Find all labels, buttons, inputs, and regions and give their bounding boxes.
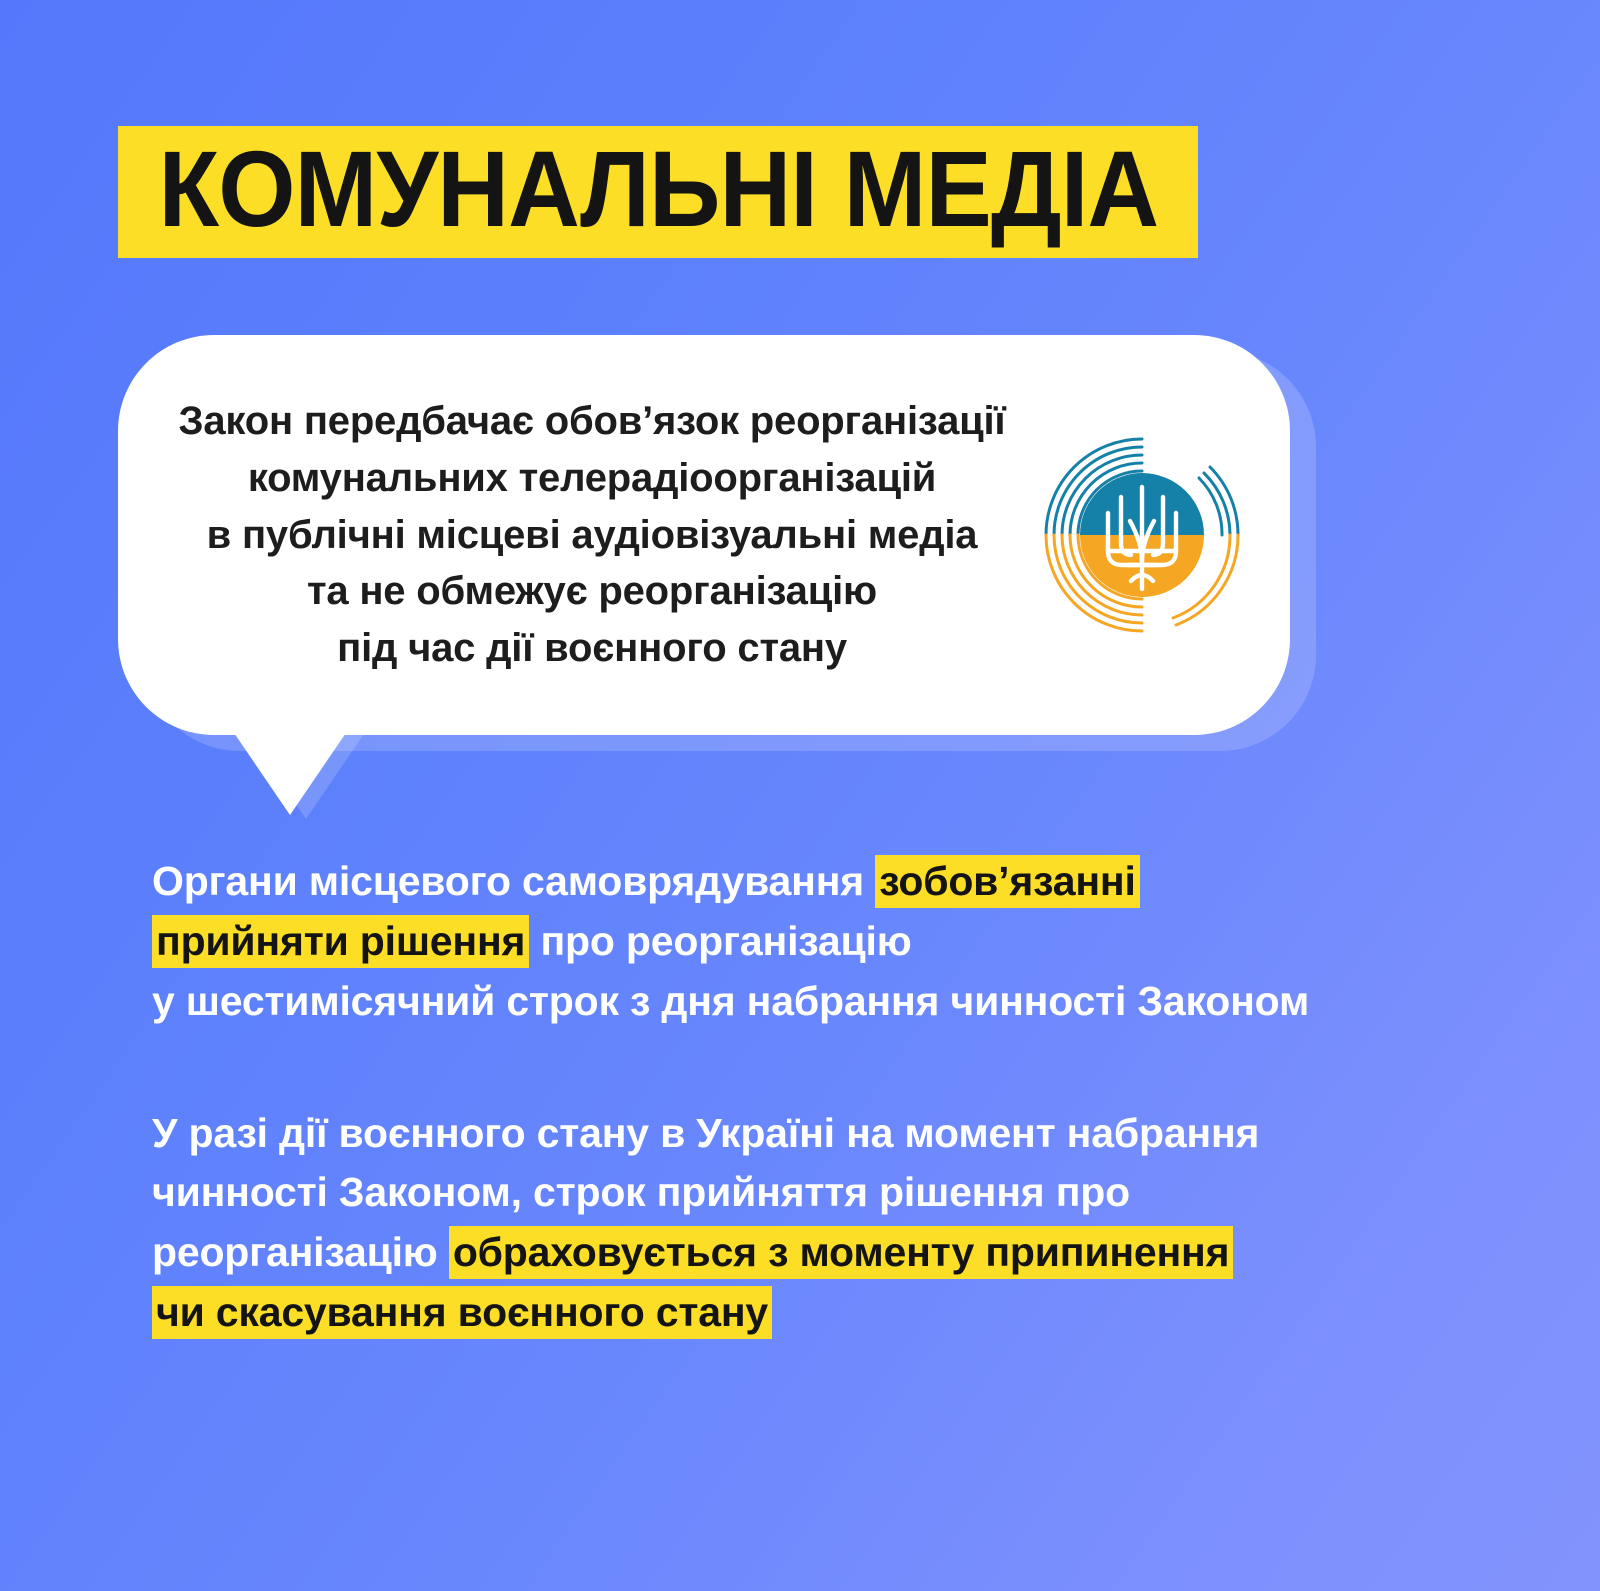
plain-text: у шестимісячний строк з дня набрання чин… bbox=[152, 978, 1309, 1024]
paragraph-deadline: Органи місцевого самоврядування зобов’яз… bbox=[152, 852, 1482, 1032]
plain-text: У разі дії воєнного стану в Україні на м… bbox=[152, 1110, 1259, 1156]
plain-text: реорганізацію bbox=[152, 1229, 449, 1275]
paragraph-line: чи скасування воєнного стану bbox=[152, 1283, 1482, 1343]
highlighted-text: прийняти рішення bbox=[152, 915, 529, 968]
highlighted-text: чи скасування воєнного стану bbox=[152, 1286, 772, 1339]
paragraph-line: Органи місцевого самоврядування зобов’яз… bbox=[152, 852, 1482, 912]
page-title-band: КОМУНАЛЬНІ МЕДІА bbox=[118, 126, 1198, 258]
paragraph-line: У разі дії воєнного стану в Україні на м… bbox=[152, 1104, 1482, 1164]
highlighted-text: зобов’язанні bbox=[875, 855, 1139, 908]
bubble-line: під час дії воєнного стану bbox=[156, 620, 1028, 677]
paragraph-line: у шестимісячний строк з дня набрання чин… bbox=[152, 972, 1482, 1032]
bubble-line: комунальних телерадіоорганізацій bbox=[156, 450, 1028, 507]
speech-bubble-tail bbox=[230, 727, 350, 815]
infographic-poster: КОМУНАЛЬНІ МЕДІА Закон передбачає обов’я… bbox=[0, 0, 1600, 1591]
paragraph-line: прийняти рішення про реорганізацію bbox=[152, 912, 1482, 972]
plain-text: чинності Законом, строк прийняття рішенн… bbox=[152, 1169, 1130, 1215]
paragraph-line: реорганізацію обраховується з моменту пр… bbox=[152, 1223, 1482, 1283]
national-council-tv-radio-emblem-icon bbox=[1028, 421, 1256, 649]
plain-text: про реорганізацію bbox=[529, 918, 911, 964]
paragraph-martial-law: У разі дії воєнного стану в Україні на м… bbox=[152, 1104, 1482, 1343]
speech-bubble-container: Закон передбачає обов’язок реорганізації… bbox=[118, 335, 1290, 735]
paragraph-line: чинності Законом, строк прийняття рішенн… bbox=[152, 1163, 1482, 1223]
page-title: КОМУНАЛЬНІ МЕДІА bbox=[158, 135, 1158, 243]
speech-bubble: Закон передбачає обов’язок реорганізації… bbox=[118, 335, 1290, 735]
speech-bubble-text: Закон передбачає обов’язок реорганізації… bbox=[146, 393, 1028, 677]
body-content: Органи місцевого самоврядування зобов’яз… bbox=[152, 852, 1482, 1343]
bubble-line: в публічні місцеві аудіовізуальні медіа bbox=[156, 507, 1028, 564]
plain-text: Органи місцевого самоврядування bbox=[152, 858, 875, 904]
highlighted-text: обраховується з моменту припинення bbox=[449, 1226, 1234, 1279]
bubble-line: Закон передбачає обов’язок реорганізації bbox=[156, 393, 1028, 450]
bubble-line: та не обмежує реорганізацію bbox=[156, 563, 1028, 620]
